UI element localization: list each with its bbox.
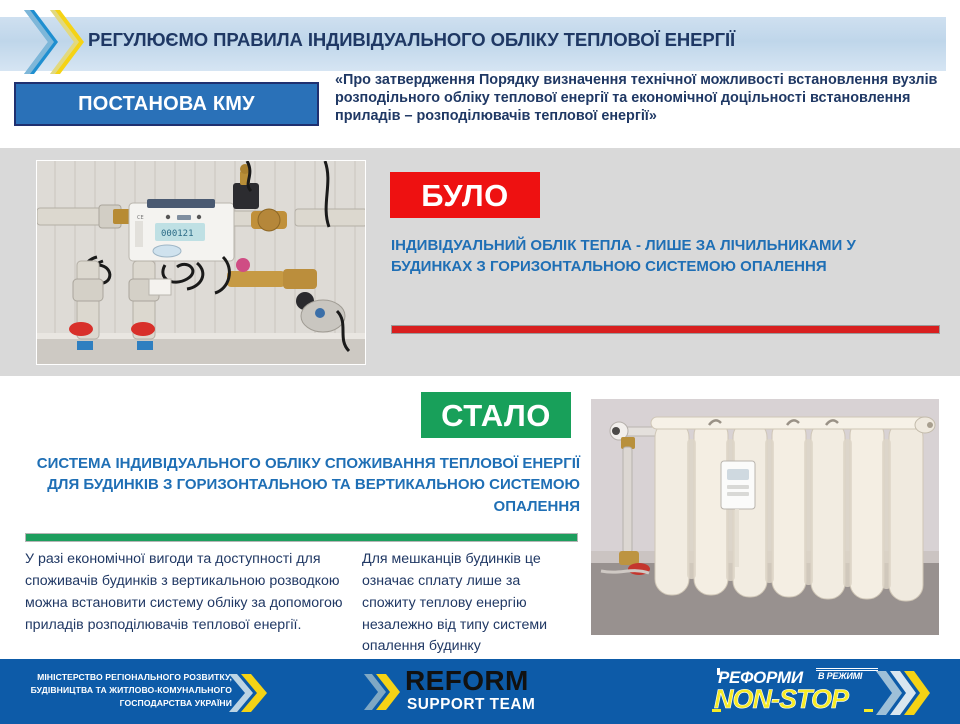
radiator-with-allocator-photo <box>590 398 940 636</box>
divider-red <box>391 325 940 334</box>
note-right: Для мешканців будинків це означає сплату… <box>362 549 577 658</box>
svg-text:000121: 000121 <box>161 229 194 239</box>
heat-meter-photo: 000121 CE <box>36 160 366 365</box>
divider-green <box>25 533 578 542</box>
slide-root: РЕГУЛЮЄМО ПРАВИЛА ІНДИВІДУАЛЬНОГО ОБЛІКУ… <box>0 0 960 724</box>
nonstop-logo: РЕФОРМИ В РЕЖИМІ NON-STOP <box>712 665 937 721</box>
note-left: У разі економічної вигоди та доступності… <box>25 549 345 636</box>
svg-text:CE: CE <box>137 215 144 221</box>
chevron-logo-icon <box>14 6 90 78</box>
ministry-chevron-icon <box>225 670 273 716</box>
rst-chevron-icon <box>362 670 404 714</box>
decree-badge-label: ПОСТАНОВА КМУ <box>78 93 255 116</box>
nonstop-dash-right <box>864 709 873 712</box>
status-badge-now-label: СТАЛО <box>441 400 551 431</box>
status-badge-now: СТАЛО <box>421 392 571 438</box>
decree-badge: ПОСТАНОВА КМУ <box>14 82 319 126</box>
footer-bar: МІНІСТЕРСТВО РЕГІОНАЛЬНОГО РОЗВИТКУ, БУД… <box>0 656 960 724</box>
rst-line1: REFORM <box>405 667 529 695</box>
nonstop-main-label: NON-STOP <box>714 686 848 713</box>
rst-line2: SUPPORT TEAM <box>407 697 535 712</box>
nonstop-chevron-icon <box>874 667 932 719</box>
page-title: РЕГУЛЮЄМО ПРАВИЛА ІНДИВІДУАЛЬНОГО ОБЛІКУ… <box>88 29 948 51</box>
status-badge-was-label: БУЛО <box>421 180 508 211</box>
ministry-name: МІНІСТЕРСТВО РЕГІОНАЛЬНОГО РОЗВИТКУ, БУД… <box>22 671 232 710</box>
was-description: ІНДИВІДУАЛЬНИЙ ОБЛІК ТЕПЛА - ЛИШЕ ЗА ЛІЧ… <box>391 236 921 277</box>
decree-text: «Про затвердження Порядку визначення тех… <box>335 72 950 126</box>
status-badge-was: БУЛО <box>390 172 540 218</box>
now-description: СИСТЕМА ІНДИВІДУАЛЬНОГО ОБЛІКУ СПОЖИВАНН… <box>18 453 580 517</box>
nonstop-sub-label: В РЕЖИМІ <box>818 672 862 681</box>
reform-support-team-logo: REFORM SUPPORT TEAM <box>362 667 572 719</box>
